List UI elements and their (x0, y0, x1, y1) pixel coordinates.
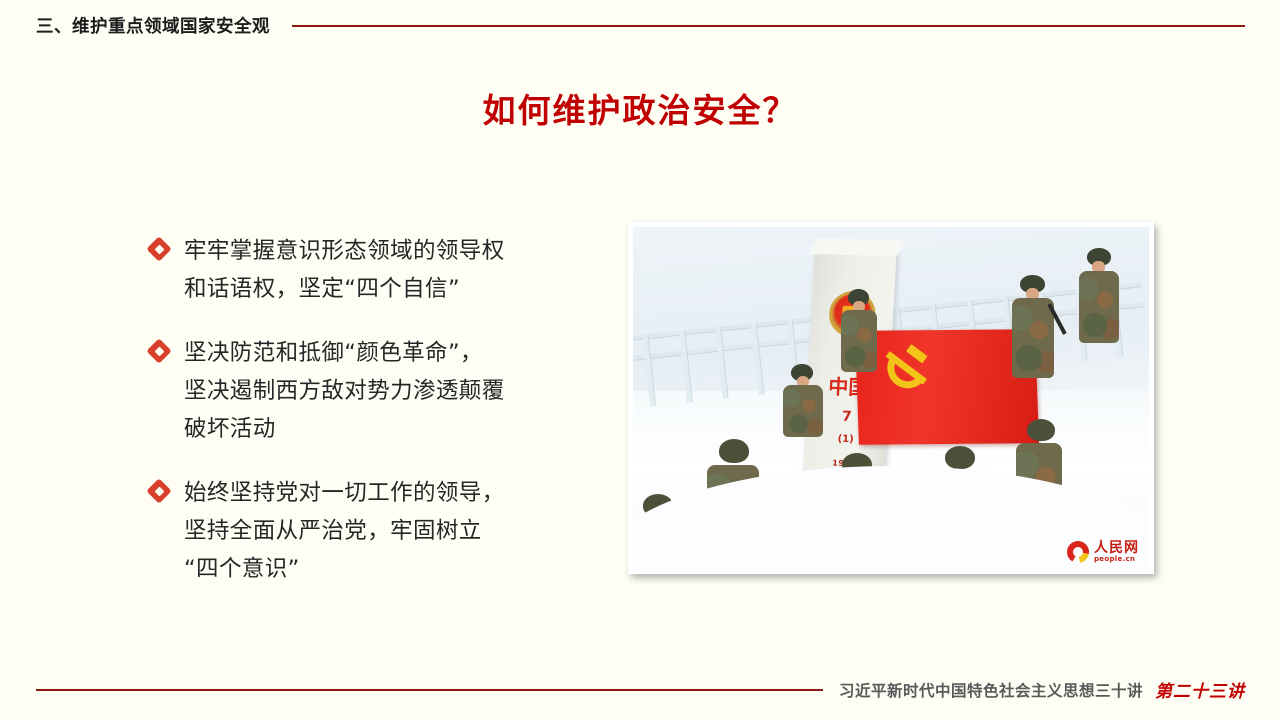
soldier (1077, 248, 1121, 344)
watermark-en-text: people.cn (1094, 556, 1139, 563)
list-item: 始终坚持党对一切工作的领导， 坚持全面从严治党，牢固树立 “四个意识” (148, 474, 618, 588)
footer-lecture-number: 第二十三讲 (1155, 677, 1245, 702)
page-title: 如何维护政治安全？ (0, 84, 1280, 132)
soldier (783, 364, 825, 438)
red-diamond-bullet-icon (148, 480, 170, 502)
photo-frame: 中国 7 (1) 1996 (628, 222, 1154, 574)
watermark-cn-text: 人民网 (1094, 541, 1139, 555)
bullet-text: 牢牢掌握意识形态领域的领导权 和话语权，坚定“四个自信” (184, 232, 505, 308)
people-cn-logo-icon (1067, 541, 1089, 563)
soldier (1010, 275, 1056, 379)
bullet-text: 坚决防范和抵御“颜色革命”， 坚决遏制西方敌对势力渗透颠覆 破坏活动 (184, 334, 505, 448)
red-diamond-bullet-icon (148, 340, 170, 362)
slide: 三、维护重点领域国家安全观 如何维护政治安全？ 牢牢掌握意识形态领域的领导权 和… (0, 0, 1280, 720)
section-label: 三、维护重点领域国家安全观 (36, 13, 270, 38)
stone-sub-number: (1) (838, 433, 855, 444)
header-divider-line (292, 25, 1245, 27)
bullet-list: 牢牢掌握意识形态领域的领导权 和话语权，坚定“四个自信” 坚决防范和抵御“颜色革… (148, 232, 618, 588)
bullet-text: 始终坚持党对一切工作的领导， 坚持全面从严治党，牢固树立 “四个意识” (184, 474, 505, 588)
footer: 习近平新时代中国特色社会主义思想三十讲 第二十三讲 (36, 677, 1245, 702)
soldier (839, 289, 879, 375)
footer-series-title: 习近平新时代中国特色社会主义思想三十讲 (839, 679, 1143, 701)
stone-number: 7 (842, 408, 853, 424)
list-item: 坚决防范和抵御“颜色革命”， 坚决遏制西方敌对势力渗透颠覆 破坏活动 (148, 334, 618, 448)
people-cn-watermark: 人民网 people.cn (1067, 541, 1139, 563)
section-header: 三、维护重点领域国家安全观 (36, 13, 1245, 38)
footer-divider-line (36, 689, 823, 691)
red-diamond-bullet-icon (148, 238, 170, 260)
hammer-and-sickle-icon (881, 343, 939, 397)
slide-photo: 中国 7 (1) 1996 (633, 227, 1149, 569)
list-item: 牢牢掌握意识形态领域的领导权 和话语权，坚定“四个自信” (148, 232, 618, 308)
stone-top-face (809, 238, 906, 256)
